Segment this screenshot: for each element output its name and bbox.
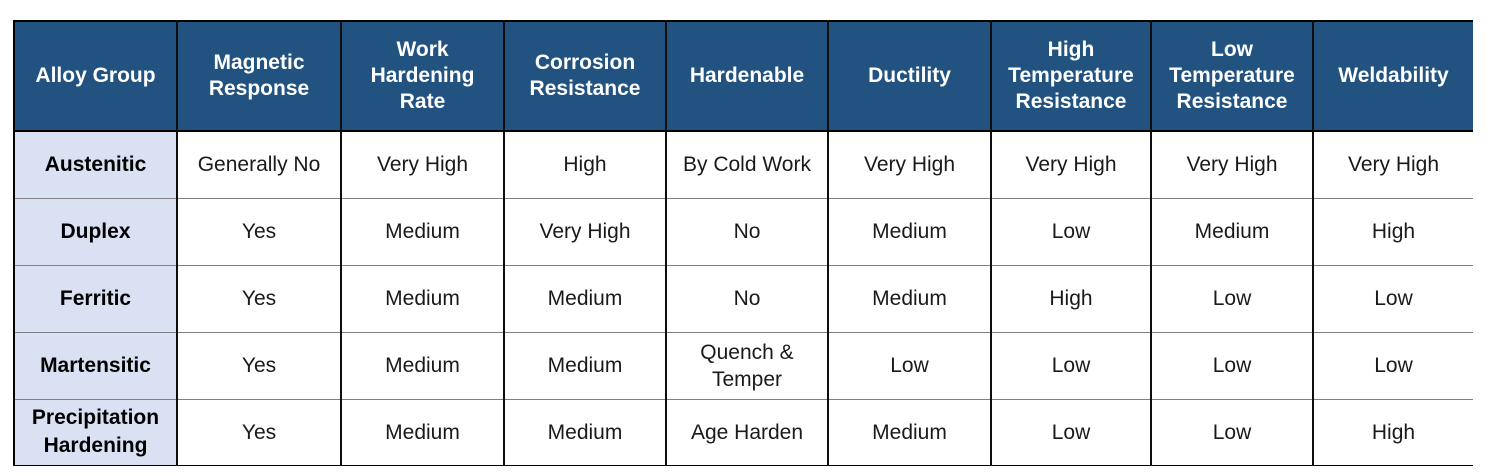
cell-ductility: Low [828,332,991,399]
cell-corrosion-resistance: Medium [504,265,666,332]
column-header-work-hardening-rate: Work Hardening Rate [341,21,504,131]
cell-hardenable: Age Harden [666,399,828,466]
cell-high-temperature-resistance: Low [991,332,1151,399]
cell-corrosion-resistance: High [504,131,666,198]
table-row: Precipitation Hardening Yes Medium Mediu… [14,399,1473,466]
cell-low-temperature-resistance: Medium [1151,198,1313,265]
cell-work-hardening-rate: Very High [341,131,504,198]
table-row: Ferritic Yes Medium Medium No Medium Hig… [14,265,1473,332]
table-body: Austenitic Generally No Very High High B… [14,131,1473,466]
cell-hardenable: No [666,198,828,265]
column-header-hardenable: Hardenable [666,21,828,131]
column-header-high-temperature-resistance: High Temperature Resistance [991,21,1151,131]
cell-magnetic-response: Generally No [177,131,341,198]
cell-work-hardening-rate: Medium [341,265,504,332]
cell-weldability: High [1313,399,1473,466]
cell-weldability: Low [1313,265,1473,332]
column-header-corrosion-resistance: Corrosion Resistance [504,21,666,131]
column-header-weldability: Weldability [1313,21,1473,131]
column-header-magnetic-response: Magnetic Response [177,21,341,131]
cell-magnetic-response: Yes [177,399,341,466]
cell-ductility: Very High [828,131,991,198]
cell-weldability: High [1313,198,1473,265]
cell-low-temperature-resistance: Low [1151,332,1313,399]
alloy-comparison-table-container: Alloy Group Magnetic Response Work Harde… [13,20,1473,466]
cell-work-hardening-rate: Medium [341,198,504,265]
cell-high-temperature-resistance: Low [991,399,1151,466]
cell-hardenable: No [666,265,828,332]
row-header-alloy-group: Precipitation Hardening [14,399,177,466]
cell-ductility: Medium [828,198,991,265]
cell-corrosion-resistance: Medium [504,399,666,466]
table-row: Duplex Yes Medium Very High No Medium Lo… [14,198,1473,265]
alloy-comparison-table: Alloy Group Magnetic Response Work Harde… [13,20,1473,466]
cell-corrosion-resistance: Medium [504,332,666,399]
row-header-alloy-group: Duplex [14,198,177,265]
cell-ductility: Medium [828,265,991,332]
row-header-alloy-group: Martensitic [14,332,177,399]
cell-low-temperature-resistance: Low [1151,399,1313,466]
cell-hardenable: Quench & Temper [666,332,828,399]
cell-weldability: Very High [1313,131,1473,198]
table-header-row: Alloy Group Magnetic Response Work Harde… [14,21,1473,131]
table-header: Alloy Group Magnetic Response Work Harde… [14,21,1473,131]
column-header-ductility: Ductility [828,21,991,131]
cell-magnetic-response: Yes [177,332,341,399]
cell-high-temperature-resistance: Low [991,198,1151,265]
row-header-alloy-group: Ferritic [14,265,177,332]
table-row: Austenitic Generally No Very High High B… [14,131,1473,198]
cell-low-temperature-resistance: Low [1151,265,1313,332]
cell-high-temperature-resistance: High [991,265,1151,332]
row-header-alloy-group: Austenitic [14,131,177,198]
cell-magnetic-response: Yes [177,198,341,265]
cell-hardenable: By Cold Work [666,131,828,198]
column-header-low-temperature-resistance: Low Temperature Resistance [1151,21,1313,131]
cell-high-temperature-resistance: Very High [991,131,1151,198]
cell-ductility: Medium [828,399,991,466]
column-header-alloy-group: Alloy Group [14,21,177,131]
cell-work-hardening-rate: Medium [341,399,504,466]
table-row: Martensitic Yes Medium Medium Quench & T… [14,332,1473,399]
cell-magnetic-response: Yes [177,265,341,332]
cell-low-temperature-resistance: Very High [1151,131,1313,198]
cell-weldability: Low [1313,332,1473,399]
cell-corrosion-resistance: Very High [504,198,666,265]
cell-work-hardening-rate: Medium [341,332,504,399]
